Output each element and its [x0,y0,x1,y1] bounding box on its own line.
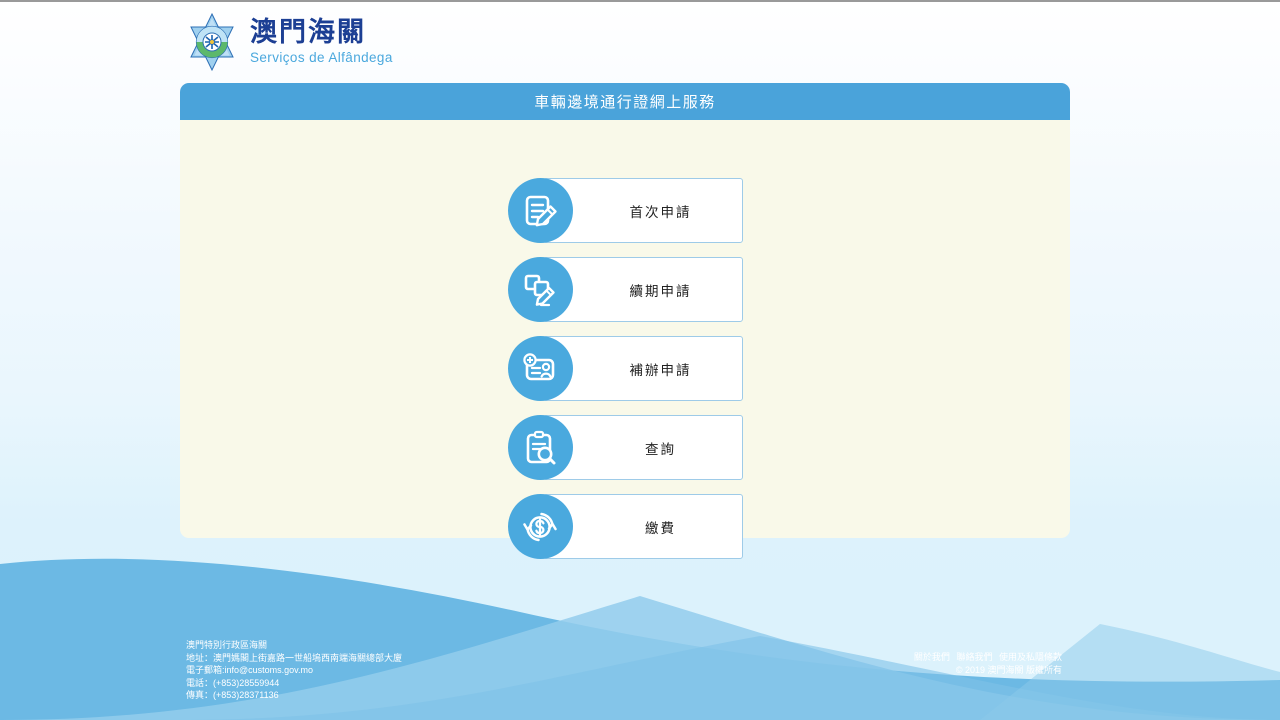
footer-organisation: 澳門特別行政區海關 [186,639,402,652]
menu-item-icon-badge [508,178,573,243]
brand-logo[interactable]: 澳門海關 Serviços de Alfândega [186,13,393,71]
menu-item-face: 補辦申請 [543,336,743,401]
menu-item-face: 首次申請 [543,178,743,243]
footer-address: 地址：澳門媽閣上街嘉路一世船塢西南端海關總部大廈 [186,652,402,665]
service-card: 車輛邊境通行證網上服務 首次申請 [180,83,1070,538]
document-search-icon [520,428,560,468]
card-title-bar: 車輛邊境通行證網上服務 [180,83,1070,120]
menu-item-label: 繳費 [645,517,676,537]
brand-name-chinese: 澳門海關 [250,19,393,46]
service-menu: 首次申請 續期申請 [508,178,743,559]
menu-item-reissue-application[interactable]: 補辦申請 [508,336,743,401]
document-pencil-icon [520,191,560,231]
site-header: 澳門海關 Serviços de Alfândega [0,2,1280,83]
site-footer: 澳門特別行政區海關 地址：澳門媽閣上街嘉路一世船塢西南端海關總部大廈 電子郵箱:… [0,540,1280,720]
copy-pencil-icon [520,270,560,310]
footer-links: 關於我們 聯絡我們 使用及私隱條款 [914,651,1062,664]
footer-link-terms[interactable]: 使用及私隱條款 [999,652,1062,662]
menu-item-icon-badge [508,257,573,322]
footer-copyright: © 2019 澳門海關 版權所有 [914,664,1062,677]
menu-item-first-application[interactable]: 首次申請 [508,178,743,243]
menu-item-icon-badge [508,415,573,480]
menu-item-label: 補辦申請 [630,359,692,379]
footer-fax: 傳真：(+853)28371136 [186,689,402,702]
id-card-plus-icon [520,349,560,389]
footer-link-about[interactable]: 關於我們 [914,652,950,662]
menu-item-face: 查詢 [543,415,743,480]
menu-item-label: 續期申請 [630,280,692,300]
footer-email[interactable]: 電子郵箱:info@customs.gov.mo [186,664,402,677]
brand-name-portuguese: Serviços de Alfândega [250,51,393,65]
menu-item-face: 續期申請 [543,257,743,322]
footer-meta-block: 關於我們 聯絡我們 使用及私隱條款 © 2019 澳門海關 版權所有 [914,651,1062,677]
footer-phone: 電話：(+853)28559944 [186,677,402,690]
menu-item-enquiry[interactable]: 查詢 [508,415,743,480]
menu-item-renewal-application[interactable]: 續期申請 [508,257,743,322]
page-title: 車輛邊境通行證網上服務 [534,91,716,112]
card-body: 首次申請 續期申請 [180,120,1070,538]
menu-item-label: 查詢 [645,438,676,458]
menu-item-icon-badge [508,336,573,401]
footer-contact-block: 澳門特別行政區海關 地址：澳門媽閣上街嘉路一世船塢西南端海關總部大廈 電子郵箱:… [186,639,402,702]
menu-item-label: 首次申請 [630,201,692,221]
macao-customs-star-crest-icon [186,13,238,71]
footer-link-contact[interactable]: 聯絡我們 [956,652,992,662]
